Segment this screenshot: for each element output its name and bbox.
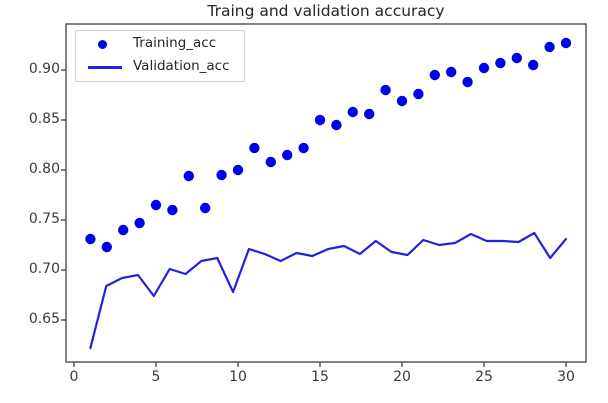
legend-entry-validation: Validation_acc	[76, 55, 244, 80]
x-tick-label: 5	[136, 369, 176, 385]
x-tick-label: 30	[546, 369, 586, 385]
chart-legend: Training_acc Validation_acc	[75, 30, 245, 82]
dot-marker-icon	[98, 40, 107, 49]
legend-entry-training: Training_acc	[76, 32, 244, 57]
x-tick-label: 25	[464, 369, 504, 385]
legend-label-validation: Validation_acc	[133, 58, 230, 74]
x-tick-label: 0	[54, 369, 94, 385]
legend-label-training: Training_acc	[133, 35, 216, 51]
x-tick-label: 20	[382, 369, 422, 385]
figure-canvas: Traing and validation accuracy 0.650.700…	[0, 0, 608, 403]
line-marker-icon	[88, 66, 122, 69]
x-tick-label: 10	[218, 369, 258, 385]
x-tick-label: 15	[300, 369, 340, 385]
